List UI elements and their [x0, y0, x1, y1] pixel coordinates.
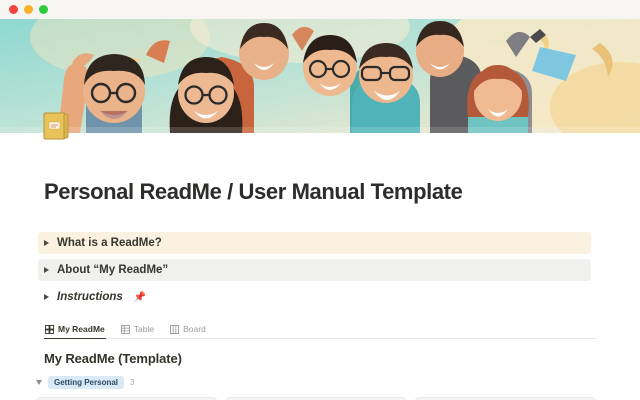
tab-board[interactable]: Board [169, 322, 207, 339]
close-button[interactable] [9, 5, 18, 14]
page-title: Personal ReadMe / User Manual Template [44, 179, 596, 205]
toggle-about-my-readme[interactable]: About “My ReadMe” [38, 259, 591, 281]
tab-table[interactable]: Table [120, 322, 155, 339]
database-view-tabs: My ReadMe Table [44, 322, 596, 339]
toggle-instructions[interactable]: Instructions 📌 [38, 286, 591, 308]
group-header[interactable]: Getting Personal 3 [36, 376, 596, 389]
tab-label: Board [183, 324, 206, 334]
app-window: Personal ReadMe / User Manual Template W… [0, 0, 640, 400]
group-count: 3 [130, 378, 134, 387]
table-icon [121, 325, 130, 334]
gallery-icon [45, 325, 54, 334]
database-title: My ReadMe (Template) [44, 351, 596, 366]
hero-illustration [0, 19, 640, 133]
pushpin-icon: 📌 [134, 292, 146, 303]
hero-banner [0, 19, 640, 133]
toggle-list: What is a ReadMe? About “My ReadMe” Inst… [44, 232, 596, 308]
toggle-what-is-a-readme[interactable]: What is a ReadMe? [38, 232, 591, 254]
chevron-right-icon[interactable] [44, 267, 49, 273]
chevron-right-icon[interactable] [44, 294, 49, 300]
minimize-button[interactable] [24, 5, 33, 14]
tab-label: My ReadMe [58, 324, 105, 334]
book-icon [42, 111, 70, 141]
chevron-down-icon[interactable] [36, 380, 42, 385]
maximize-button[interactable] [39, 5, 48, 14]
group-badge: Getting Personal [48, 376, 124, 389]
chevron-right-icon[interactable] [44, 240, 49, 246]
board-icon [170, 325, 179, 334]
tab-my-readme[interactable]: My ReadMe [44, 322, 106, 339]
toggle-label: Instructions [57, 291, 123, 303]
inline-database: My ReadMe Table [44, 322, 596, 400]
tab-label: Table [134, 324, 154, 334]
window-titlebar [0, 0, 640, 19]
page-content: Personal ReadMe / User Manual Template W… [0, 179, 640, 400]
toggle-label: What is a ReadMe? [57, 237, 162, 249]
toggle-label: About “My ReadMe” [57, 264, 168, 276]
